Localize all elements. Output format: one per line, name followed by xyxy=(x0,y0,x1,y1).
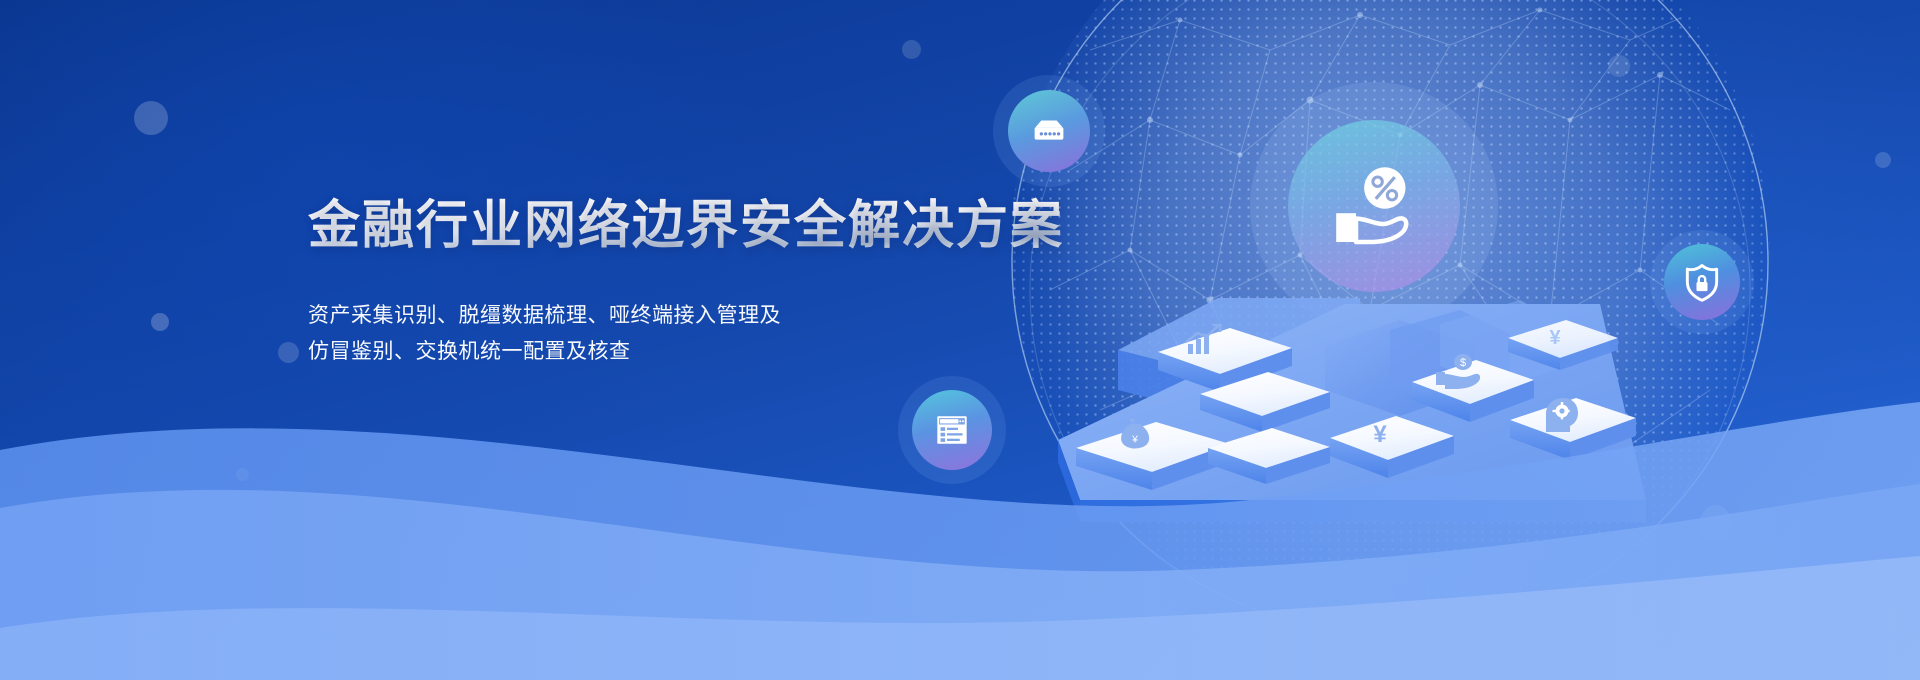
subtitle-line-1: 资产采集识别、脱缰数据梳理、哑终端接入管理及 xyxy=(308,298,1064,334)
wave-layer-2 xyxy=(0,484,1920,680)
platform-slab-side xyxy=(1080,500,1646,522)
subtitle-line-2: 仿冒鉴别、交换机统一配置及核查 xyxy=(308,334,1064,370)
banner-subtitle: 资产采集识别、脱缰数据梳理、哑终端接入管理及 仿冒鉴别、交换机统一配置及核查 xyxy=(308,298,1064,370)
hand-percent-icon xyxy=(1320,152,1428,260)
decor-circle-2 xyxy=(151,313,169,331)
wave-layer-3 xyxy=(0,556,1920,680)
decor-circle-3 xyxy=(278,342,299,363)
hand-dollar-icon: $ xyxy=(1436,354,1480,389)
network-switch-icon xyxy=(1026,108,1072,154)
decor-circle-1 xyxy=(134,101,168,135)
yen-symbol-icon: ¥ xyxy=(1373,421,1387,448)
tile-money-bag: ¥ xyxy=(1076,419,1230,490)
solution-banner: ¥ xyxy=(0,0,1920,680)
shield-lock-icon xyxy=(1680,260,1724,304)
bubble-hand-percent[interactable] xyxy=(1288,120,1460,292)
bubble-shield-lock[interactable] xyxy=(1664,244,1740,320)
bubble-browser-list[interactable] xyxy=(912,390,992,470)
tile-growth-chart xyxy=(1158,325,1292,392)
decor-circle-10 xyxy=(1410,602,1424,616)
yen-symbol-icon-top: ¥ xyxy=(1549,327,1561,349)
decor-circle-7 xyxy=(1608,55,1630,77)
tile-blank-lower xyxy=(1208,428,1330,484)
svg-text:¥: ¥ xyxy=(1131,434,1138,445)
decor-circle-5 xyxy=(902,40,921,59)
tile-blank-upper xyxy=(1200,372,1330,432)
tile-yen-center: ¥ xyxy=(1330,416,1454,478)
platform-slab-top xyxy=(1058,304,1646,500)
browser-list-icon xyxy=(930,408,974,452)
tile-ai-head xyxy=(1510,398,1636,460)
money-bag-yen-icon: ¥ xyxy=(1121,419,1149,449)
banner-text-block: 金融行业网络边界安全解决方案 资产采集识别、脱缰数据梳理、哑终端接入管理及 仿冒… xyxy=(308,196,1064,370)
decor-circle-9 xyxy=(1700,505,1731,541)
svg-text:$: $ xyxy=(1460,357,1466,369)
platform-slab-edge xyxy=(1058,440,1080,522)
tile-hand-dollar: $ xyxy=(1412,354,1534,422)
decor-circle-4 xyxy=(236,468,249,481)
ai-brain-gear-icon xyxy=(1546,398,1578,432)
decor-circle-8 xyxy=(1875,152,1891,168)
page-title: 金融行业网络边界安全解决方案 xyxy=(308,196,1064,256)
background-glow-right xyxy=(1160,0,1920,600)
growth-chart-icon xyxy=(1186,325,1220,354)
bubble-network-switch[interactable] xyxy=(1008,90,1090,172)
tile-yen-top: ¥ xyxy=(1508,320,1618,370)
